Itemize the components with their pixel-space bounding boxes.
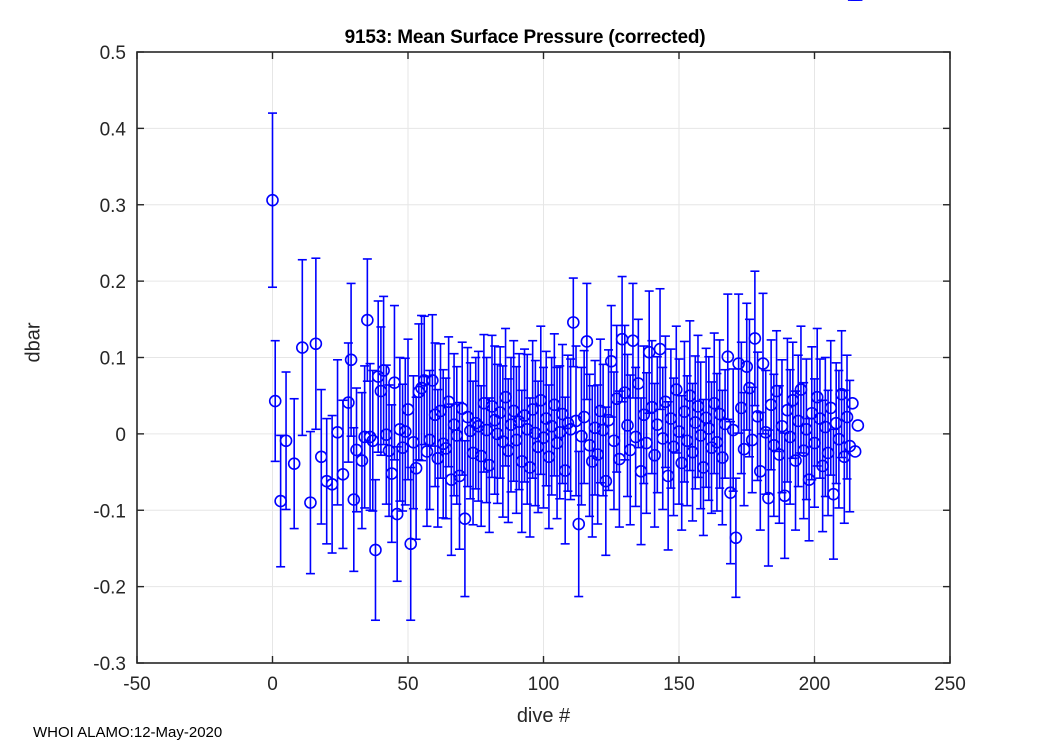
data-point xyxy=(459,441,470,597)
marker-open-circle xyxy=(847,398,858,409)
y-tick-label: 0.1 xyxy=(100,349,126,370)
data-point xyxy=(552,367,563,518)
scatter-errorbar-plot[interactable]: -0.3-0.2-0.100.10.20.30.40.5-50050100150… xyxy=(0,0,1050,750)
data-point xyxy=(443,337,454,467)
data-point xyxy=(267,113,278,287)
data-point xyxy=(489,346,500,494)
data-point xyxy=(787,342,798,458)
x-tick-label: 100 xyxy=(528,674,560,695)
data-point xyxy=(546,358,557,495)
data-point xyxy=(419,316,430,444)
data-point xyxy=(373,301,384,452)
data-point xyxy=(739,393,750,506)
data-point xyxy=(305,432,316,574)
data-point xyxy=(541,351,552,485)
data-point xyxy=(549,334,560,476)
y-tick-label: 0.5 xyxy=(100,43,126,64)
y-tick-label: -0.3 xyxy=(93,654,126,675)
data-point xyxy=(831,363,842,484)
data-point xyxy=(679,341,690,482)
data-point xyxy=(568,278,579,367)
data-point xyxy=(270,341,281,462)
data-point xyxy=(337,400,348,548)
data-point xyxy=(310,258,321,429)
data-point xyxy=(435,344,446,478)
data-point xyxy=(413,324,424,460)
data-point xyxy=(365,364,376,511)
data-point xyxy=(611,325,622,472)
data-point xyxy=(470,358,481,489)
x-axis-label: dive # xyxy=(137,705,950,728)
data-point xyxy=(405,467,416,620)
data-point xyxy=(836,331,847,458)
tick-labels: -0.3-0.2-0.100.10.20.30.40.5-50050100150… xyxy=(93,43,966,695)
data-point xyxy=(403,339,414,480)
data-point xyxy=(809,379,820,507)
data-point xyxy=(451,367,462,504)
data-point xyxy=(717,390,728,524)
data-point xyxy=(600,407,611,555)
marker-open-circle xyxy=(852,420,863,431)
x-tick-label: -50 xyxy=(123,674,150,695)
y-tick-label: 0.2 xyxy=(100,272,126,293)
data-point xyxy=(655,289,666,410)
data-point xyxy=(503,379,514,523)
data-point xyxy=(392,447,403,581)
data-point xyxy=(641,373,652,514)
data-point xyxy=(370,480,381,621)
data-point xyxy=(430,343,441,487)
data-point xyxy=(427,315,438,446)
x-tick-label: 200 xyxy=(799,674,831,695)
data-point xyxy=(752,352,763,480)
data-point xyxy=(776,360,787,493)
data-point xyxy=(798,383,809,519)
data-point xyxy=(760,370,771,494)
data-point xyxy=(332,360,343,505)
data-point xyxy=(801,359,812,500)
data-point xyxy=(508,341,519,482)
data-point xyxy=(646,341,657,474)
data-point xyxy=(343,343,354,462)
data-point xyxy=(720,370,731,478)
data-point xyxy=(749,271,760,405)
x-tick-label: 50 xyxy=(397,674,418,695)
y-tick-label: 0.4 xyxy=(100,119,127,140)
data-point xyxy=(644,291,655,413)
data-point xyxy=(793,355,804,486)
data-point xyxy=(281,372,292,509)
data-point xyxy=(400,358,411,505)
data-point xyxy=(297,260,308,436)
data-point xyxy=(619,325,630,459)
data-point xyxy=(408,376,419,509)
data-point xyxy=(828,429,839,559)
data-point xyxy=(722,294,733,419)
data-point xyxy=(581,283,592,399)
data-point xyxy=(524,398,535,537)
data-point xyxy=(842,355,853,479)
y-tick-label: 0.3 xyxy=(100,196,126,217)
y-tick-label: -0.1 xyxy=(93,501,126,522)
data-point xyxy=(316,390,327,524)
data-layer xyxy=(267,0,863,620)
data-point xyxy=(652,357,663,493)
data-point xyxy=(785,370,796,504)
data-point xyxy=(348,428,359,572)
data-point xyxy=(554,366,565,499)
x-tick-label: 150 xyxy=(663,674,695,695)
data-point xyxy=(462,348,473,487)
data-point xyxy=(730,478,741,597)
data-point xyxy=(812,328,823,465)
data-point xyxy=(806,347,817,480)
data-point xyxy=(714,340,725,488)
data-point xyxy=(603,350,614,491)
y-tick-label: 0 xyxy=(115,425,126,446)
data-point xyxy=(617,277,628,402)
y-axis-label: dbar xyxy=(23,293,46,393)
x-tick-label: 0 xyxy=(267,674,278,695)
data-point xyxy=(850,0,861,457)
data-point xyxy=(346,283,357,436)
data-point xyxy=(852,0,863,431)
data-point xyxy=(790,391,801,530)
x-tick-label: 250 xyxy=(934,674,966,695)
data-point xyxy=(825,341,836,475)
figure-canvas: 9153: Mean Surface Pressure (corrected) … xyxy=(0,0,1050,750)
footer-note: WHOI ALAMO:12-May-2020 xyxy=(33,724,222,741)
data-point xyxy=(747,387,758,492)
data-point xyxy=(703,357,714,501)
data-point xyxy=(573,451,584,596)
data-point xyxy=(275,435,286,566)
data-point xyxy=(327,416,338,553)
data-point xyxy=(378,296,389,444)
data-point xyxy=(701,348,712,487)
data-point xyxy=(633,319,644,447)
data-point xyxy=(533,381,544,512)
data-point xyxy=(421,377,432,527)
y-tick-label: -0.2 xyxy=(93,578,126,599)
data-point xyxy=(649,383,660,527)
